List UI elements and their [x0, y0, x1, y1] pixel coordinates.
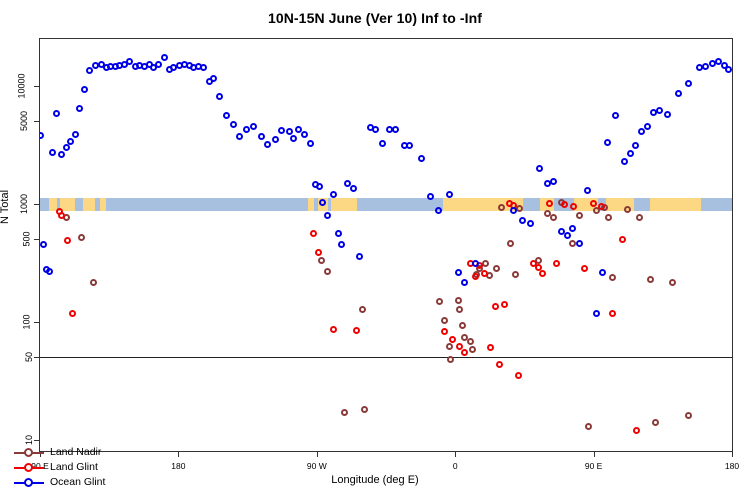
data-point [155, 61, 162, 68]
data-point [569, 225, 576, 232]
legend-item-land-nadir[interactable]: Land Nadir [14, 445, 105, 460]
data-point [210, 75, 217, 82]
data-point [441, 328, 448, 335]
data-point [236, 133, 243, 140]
data-point [436, 298, 443, 305]
data-point [264, 141, 271, 148]
data-point [482, 260, 489, 267]
data-point [49, 149, 56, 156]
x-tick-label: 90 W [307, 461, 327, 471]
data-point [286, 128, 293, 135]
data-point [685, 412, 692, 419]
data-point [46, 268, 53, 275]
y-tick-label: 100 [6, 308, 34, 336]
data-point [605, 214, 612, 221]
data-point [612, 112, 619, 119]
data-point [58, 151, 65, 158]
data-point [161, 54, 168, 61]
data-point [539, 270, 546, 277]
data-point [361, 406, 368, 413]
data-point [324, 268, 331, 275]
data-point [609, 310, 616, 317]
data-point [447, 356, 454, 363]
data-point [356, 253, 363, 260]
y-tick-mark [34, 121, 40, 122]
legend-marker-icon [14, 445, 44, 460]
data-point [675, 90, 682, 97]
legend-item-land-glint[interactable]: Land Glint [14, 460, 105, 475]
plot-area: 1050100500100050001000090 E18090 W090 E1… [39, 38, 733, 452]
data-point [258, 133, 265, 140]
data-point [86, 67, 93, 74]
data-point [69, 310, 76, 317]
data-point [467, 338, 474, 345]
data-point [515, 372, 522, 379]
y-tick-mark [34, 357, 40, 358]
data-point [72, 131, 79, 138]
data-point [223, 112, 230, 119]
data-point [487, 344, 494, 351]
y-tick-label: 500 [6, 225, 34, 253]
data-point [278, 127, 285, 134]
data-point [330, 326, 337, 333]
data-point [576, 212, 583, 219]
data-point [581, 265, 588, 272]
data-point [632, 142, 639, 149]
data-point [435, 207, 442, 214]
data-point [569, 240, 576, 247]
data-point [459, 322, 466, 329]
chart-legend: Land NadirLand GlintOcean Glint [14, 445, 105, 490]
data-point [647, 276, 654, 283]
data-point [593, 310, 600, 317]
y-tick-label: 1000 [6, 190, 34, 218]
y-tick-mark [34, 440, 40, 441]
x-tick-mark [317, 451, 318, 457]
legend-label: Ocean Glint [50, 475, 105, 490]
data-point [372, 126, 379, 133]
y-tick-mark [34, 322, 40, 323]
data-point [272, 136, 279, 143]
x-tick-label: 0 [453, 461, 458, 471]
data-point [446, 343, 453, 350]
surface-mask-land [308, 198, 314, 211]
data-point [243, 126, 250, 133]
data-point [472, 273, 479, 280]
data-point [307, 140, 314, 147]
data-point [455, 297, 462, 304]
data-point [561, 201, 568, 208]
data-point [200, 64, 207, 71]
data-point [341, 409, 348, 416]
data-point [359, 306, 366, 313]
data-point [527, 220, 534, 227]
data-point [461, 349, 468, 356]
data-point [553, 260, 560, 267]
data-point [624, 206, 631, 213]
data-point [536, 165, 543, 172]
x-tick-mark [178, 451, 179, 457]
data-point [446, 191, 453, 198]
x-tick-label: 180 [725, 461, 739, 471]
data-point [67, 138, 74, 145]
data-point [310, 230, 317, 237]
data-point [338, 241, 345, 248]
x-tick-label: 180 [171, 461, 185, 471]
data-point [496, 361, 503, 368]
data-point [516, 205, 523, 212]
y-tick-label: 50 [6, 343, 34, 371]
data-point [644, 123, 651, 130]
data-point [570, 203, 577, 210]
data-point [64, 237, 71, 244]
x-axis-title: Longitude (deg E) [0, 474, 750, 486]
data-point [81, 86, 88, 93]
data-point [441, 317, 448, 324]
legend-item-ocean-glint[interactable]: Ocean Glint [14, 475, 105, 490]
data-point [76, 105, 83, 112]
data-point [316, 183, 323, 190]
data-point [379, 140, 386, 147]
surface-mask-land [331, 198, 357, 211]
data-point [63, 144, 70, 151]
chart-root: 10N-15N June (Ver 10) Inf to -Inf N Tota… [0, 0, 750, 500]
data-point [627, 150, 634, 157]
data-point [58, 212, 65, 219]
y-tick-mark [34, 239, 40, 240]
legend-label: Land Glint [50, 460, 98, 475]
data-point [519, 217, 526, 224]
data-point [392, 126, 399, 133]
data-point [725, 66, 732, 73]
plot-inner [40, 39, 732, 451]
data-point [406, 142, 413, 149]
x-tick-mark [732, 451, 733, 457]
data-point [633, 427, 640, 434]
data-point [507, 240, 514, 247]
data-point [546, 200, 553, 207]
data-point [664, 111, 671, 118]
data-point [493, 265, 500, 272]
data-point [449, 336, 456, 343]
data-point [656, 107, 663, 114]
data-point [609, 274, 616, 281]
data-point [472, 260, 479, 267]
data-point [585, 423, 592, 430]
data-point [550, 214, 557, 221]
data-point [455, 269, 462, 276]
data-point [619, 236, 626, 243]
data-point [599, 269, 606, 276]
data-point [652, 419, 659, 426]
x-tick-label: 90 E [585, 461, 603, 471]
reference-line [40, 357, 732, 358]
data-point [350, 185, 357, 192]
data-point [501, 301, 508, 308]
data-point [216, 93, 223, 100]
data-point [469, 346, 476, 353]
legend-marker-icon [14, 460, 44, 475]
chart-title: 10N-15N June (Ver 10) Inf to -Inf [0, 10, 750, 26]
data-point [638, 128, 645, 135]
data-point [584, 187, 591, 194]
data-point [621, 158, 628, 165]
data-point [636, 214, 643, 221]
data-point [492, 303, 499, 310]
data-point [550, 178, 557, 185]
data-point [510, 207, 517, 214]
data-point [576, 240, 583, 247]
x-tick-mark [455, 451, 456, 457]
legend-label: Land Nadir [50, 445, 101, 460]
data-point [53, 110, 60, 117]
data-point [230, 121, 237, 128]
x-tick-mark [594, 451, 595, 457]
data-point [318, 257, 325, 264]
data-point [315, 249, 322, 256]
data-point [418, 155, 425, 162]
data-point [78, 234, 85, 241]
data-point [498, 204, 505, 211]
y-tick-label: 5000 [6, 107, 34, 135]
data-point [669, 279, 676, 286]
surface-mask-land [83, 198, 95, 211]
data-point [40, 241, 47, 248]
data-point [564, 232, 571, 239]
data-point [512, 271, 519, 278]
data-point [456, 306, 463, 313]
data-point [90, 279, 97, 286]
y-tick-mark [34, 204, 40, 205]
data-point [250, 123, 257, 130]
data-point [290, 135, 297, 142]
data-point [685, 80, 692, 87]
data-point [353, 327, 360, 334]
data-point [324, 212, 331, 219]
data-point [335, 230, 342, 237]
y-tick-mark [34, 86, 40, 87]
data-point [301, 131, 308, 138]
legend-marker-icon [14, 475, 44, 490]
surface-mask-land [650, 198, 701, 211]
data-point [461, 279, 468, 286]
data-point [604, 139, 611, 146]
surface-mask-land [100, 198, 106, 211]
data-point [40, 132, 44, 139]
y-tick-label: 10000 [6, 72, 34, 100]
